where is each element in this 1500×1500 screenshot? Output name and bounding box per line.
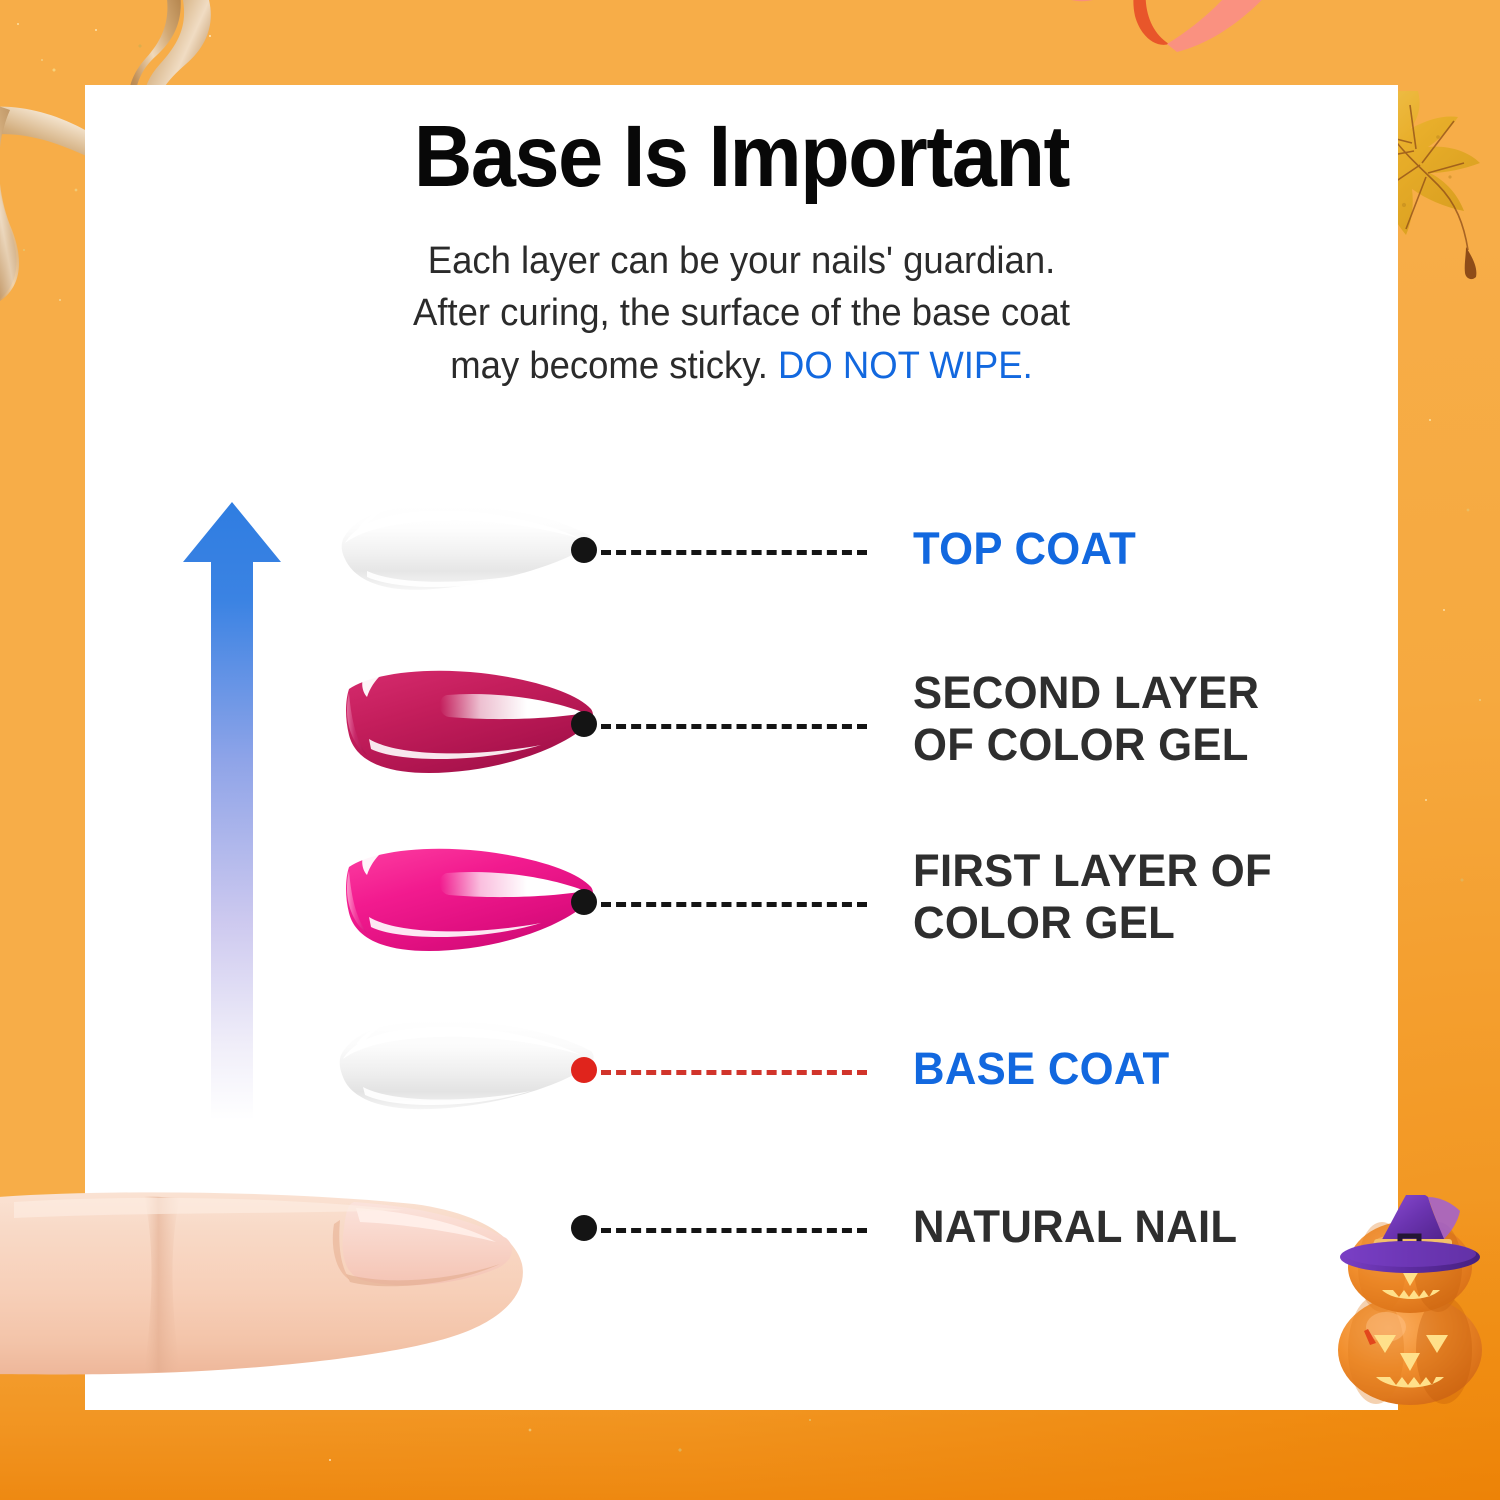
pink-gel-nail bbox=[337, 841, 599, 961]
layer-leader-line-top-coat bbox=[601, 550, 867, 555]
subtitle-line-2: After curing, the surface of the base co… bbox=[111, 287, 1371, 339]
subtitle-line-3: may become sticky. DO NOT WIPE. bbox=[111, 340, 1371, 392]
layer-row-first-layer: FIRST LAYER OF COLOR GEL bbox=[85, 833, 1398, 993]
coral-ribbon-icon bbox=[1045, 0, 1275, 64]
layer-leader-line-base-coat bbox=[601, 1070, 867, 1075]
layer-marker-dot-second-layer bbox=[571, 711, 597, 737]
page-subtitle: Each layer can be your nails' guardian. … bbox=[111, 235, 1371, 392]
layer-leader-line-first-layer bbox=[601, 902, 867, 907]
finger-with-natural-nail bbox=[0, 1180, 564, 1395]
layer-label-base-coat: BASE COAT bbox=[913, 1043, 1169, 1095]
layer-marker-dot-natural-nail bbox=[571, 1215, 597, 1241]
layer-row-second-layer: SECOND LAYER OF COLOR GEL bbox=[85, 655, 1398, 815]
layer-marker-dot-top-coat bbox=[571, 537, 597, 563]
layer-row-top-coat: TOP COAT bbox=[85, 485, 1398, 625]
subtitle-line-3-text: may become sticky. bbox=[450, 345, 778, 387]
clear-glossy-nail bbox=[337, 499, 597, 599]
layer-label-top-coat: TOP COAT bbox=[913, 523, 1136, 575]
layer-row-base-coat: BASE COAT bbox=[85, 1005, 1398, 1145]
subtitle-line-1: Each layer can be your nails' guardian. bbox=[111, 235, 1371, 287]
layer-marker-dot-base-coat bbox=[571, 1057, 597, 1083]
layer-marker-dot-first-layer bbox=[571, 889, 597, 915]
glitter-icon-right bbox=[1410, 380, 1500, 940]
layer-leader-line-natural-nail bbox=[601, 1228, 867, 1233]
crimson-gel-nail bbox=[337, 663, 599, 783]
layer-label-first-layer: FIRST LAYER OF COLOR GEL bbox=[913, 845, 1272, 949]
clear-glossy-nail-base bbox=[335, 1015, 599, 1121]
layer-label-second-layer: SECOND LAYER OF COLOR GEL bbox=[913, 667, 1259, 771]
do-not-wipe-emphasis: DO NOT WIPE. bbox=[778, 345, 1033, 387]
layer-label-natural-nail: NATURAL NAIL bbox=[913, 1201, 1237, 1253]
page-title: Base Is Important bbox=[131, 113, 1352, 200]
jack-o-lantern-icon bbox=[1328, 1195, 1493, 1410]
layer-leader-line-second-layer bbox=[601, 724, 867, 729]
